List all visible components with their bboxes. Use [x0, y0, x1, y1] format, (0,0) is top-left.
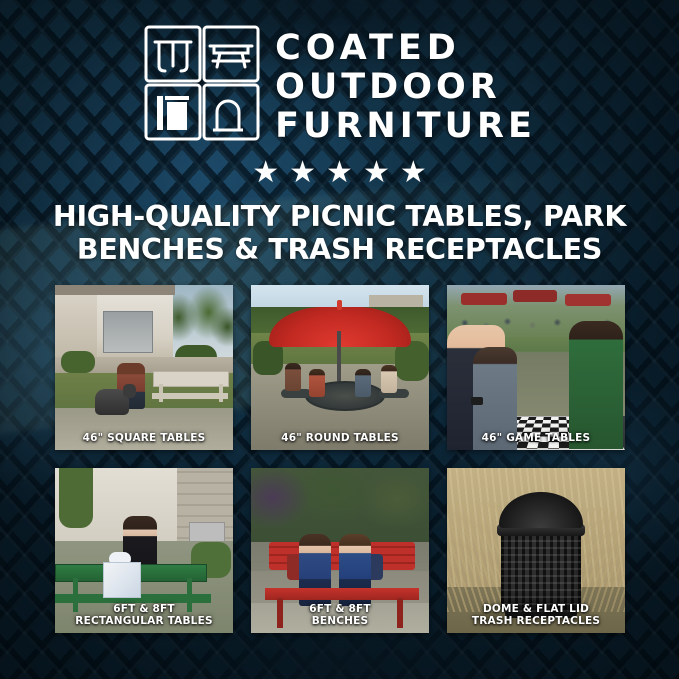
photo-round-tables — [251, 285, 429, 450]
tile-caption: 46" ROUND TABLES — [251, 427, 429, 450]
tile-caption-line-2: BENCHES — [254, 615, 426, 627]
tile-caption: DOME & FLAT LID TRASH RECEPTACLES — [447, 598, 625, 633]
star-icon: ★ — [252, 158, 279, 188]
tile-caption-line-1: DOME & FLAT LID — [450, 603, 622, 615]
tile-caption-line-1: 6FT & 8FT — [254, 603, 426, 615]
tile-caption: 6FT & 8FT BENCHES — [251, 598, 429, 633]
category-tile-benches[interactable]: 6FT & 8FT BENCHES — [251, 468, 429, 633]
tile-caption: 46" GAME TABLES — [447, 427, 625, 450]
category-tile-round-tables[interactable]: 46" ROUND TABLES — [251, 285, 429, 450]
marketing-poster: COATED OUTDOOR FURNITURE ★ ★ ★ ★ ★ HIGH-… — [0, 0, 679, 679]
wordmark-line-3: FURNITURE — [275, 108, 536, 145]
star-icon: ★ — [400, 158, 427, 188]
photo-game-tables — [447, 285, 625, 450]
category-tile-rectangular-tables[interactable]: 6FT & 8FT RECTANGULAR TABLES — [55, 468, 233, 633]
star-icon: ★ — [326, 158, 353, 188]
product-category-grid: 46" SQUARE TABLES — [55, 285, 625, 633]
photo-square-tables — [55, 285, 233, 450]
brand-logo: COATED OUTDOOR FURNITURE — [0, 24, 679, 145]
tile-caption-line-2: RECTANGULAR TABLES — [58, 615, 230, 627]
star-rating: ★ ★ ★ ★ ★ — [0, 158, 679, 188]
wordmark-line-2: OUTDOOR — [275, 69, 536, 106]
category-tile-trash-receptacles[interactable]: DOME & FLAT LID TRASH RECEPTACLES — [447, 468, 625, 633]
category-tile-game-tables[interactable]: 46" GAME TABLES — [447, 285, 625, 450]
poster-content: COATED OUTDOOR FURNITURE ★ ★ ★ ★ ★ HIGH-… — [0, 0, 679, 679]
brand-wordmark: COATED OUTDOOR FURNITURE — [275, 24, 536, 145]
wordmark-line-1: COATED — [275, 30, 536, 67]
tile-caption: 46" SQUARE TABLES — [55, 427, 233, 450]
star-icon: ★ — [363, 158, 390, 188]
picnic-table-and-trash-can-logo-icon — [143, 24, 261, 142]
tile-caption-line-1: 6FT & 8FT — [58, 603, 230, 615]
tile-caption: 6FT & 8FT RECTANGULAR TABLES — [55, 598, 233, 633]
page-title: HIGH-QUALITY PICNIC TABLES, PARK BENCHES… — [0, 200, 679, 266]
category-tile-square-tables[interactable]: 46" SQUARE TABLES — [55, 285, 233, 450]
tile-caption-line-2: TRASH RECEPTACLES — [450, 615, 622, 627]
headline-line-1: HIGH-QUALITY PICNIC TABLES, PARK — [0, 200, 679, 233]
star-icon: ★ — [289, 158, 316, 188]
headline-line-2: BENCHES & TRASH RECEPTACLES — [0, 233, 679, 266]
